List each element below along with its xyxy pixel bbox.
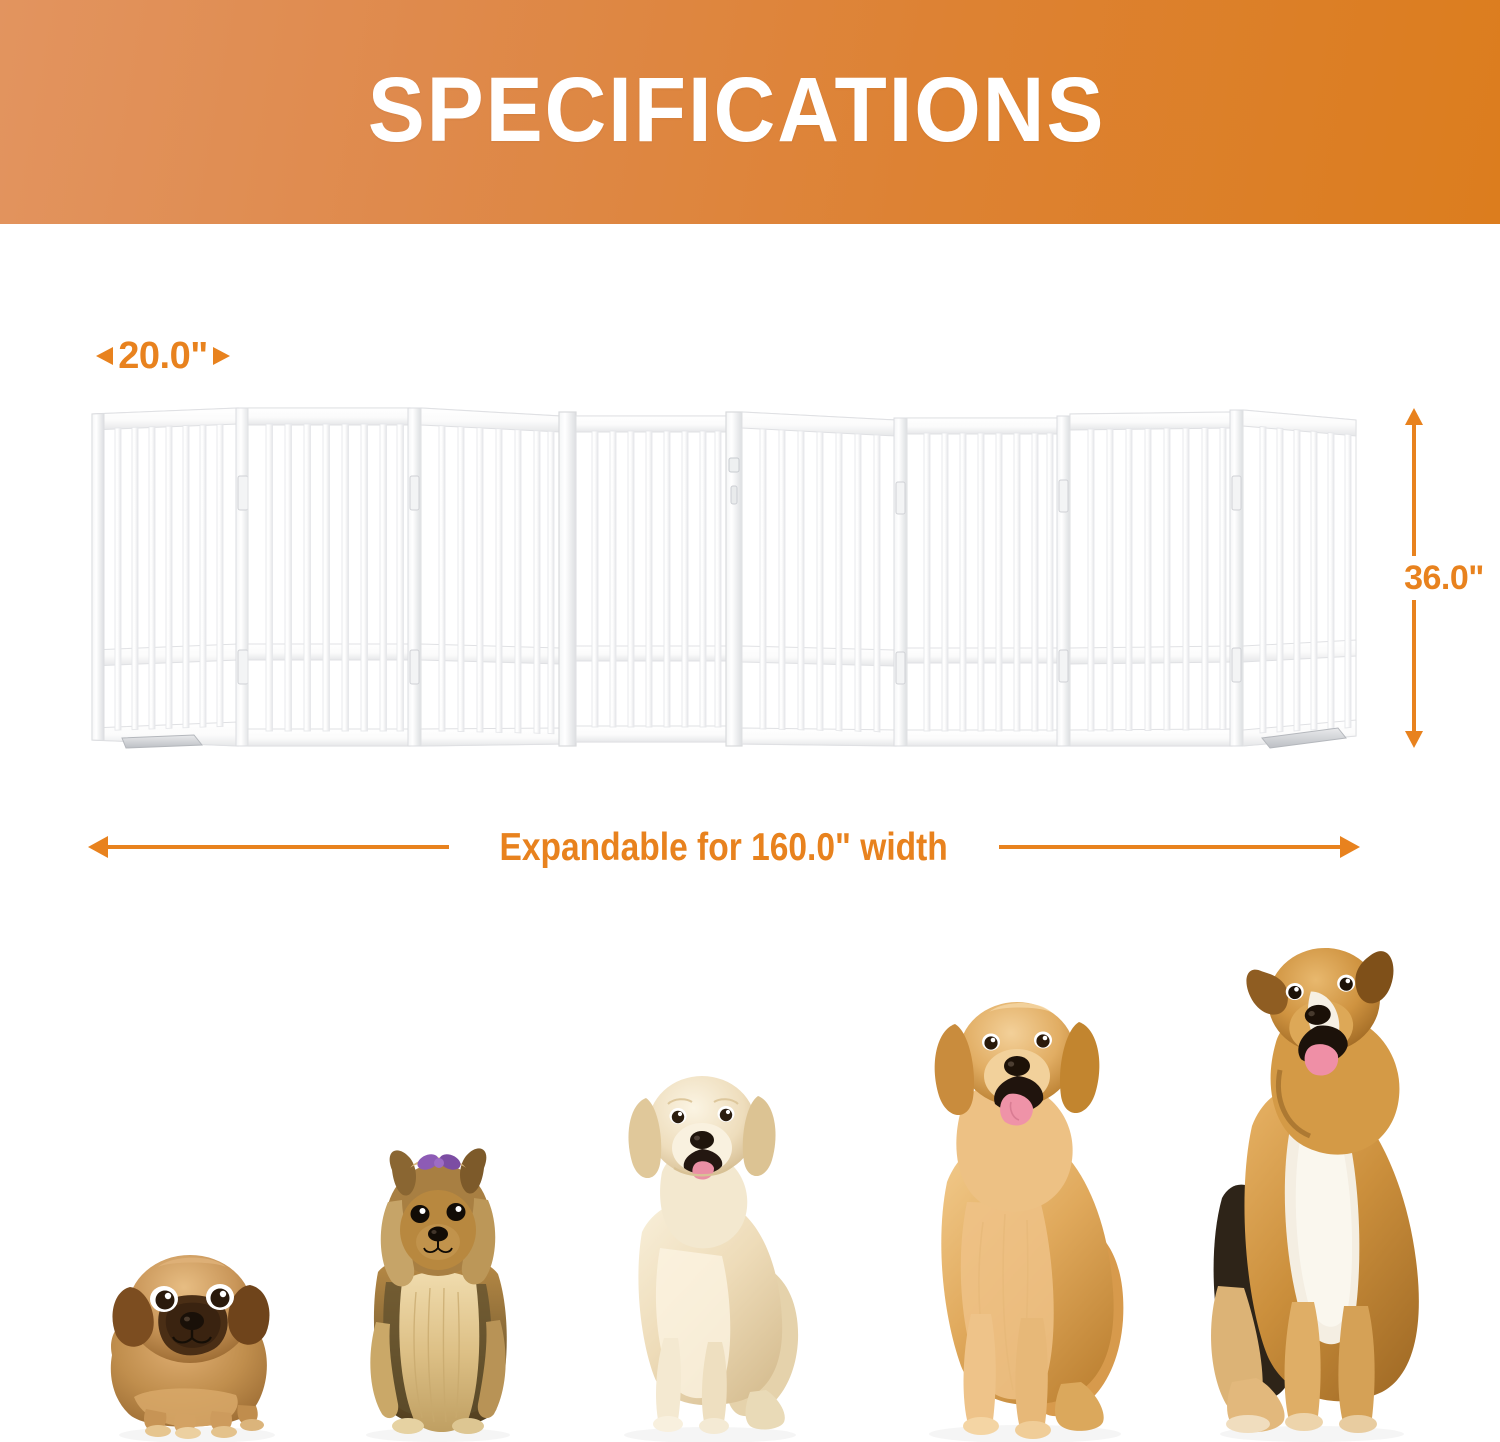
dimension-line-right bbox=[999, 845, 1340, 849]
dog-size-comparison-row bbox=[0, 900, 1500, 1442]
gate-door-panel bbox=[559, 412, 742, 746]
dog-pekingese-puppy bbox=[72, 1237, 322, 1442]
gate-panel-2 bbox=[248, 408, 410, 746]
gate-panel-3 bbox=[421, 408, 560, 746]
panel-hinge-7 bbox=[1230, 410, 1243, 746]
door-jamb bbox=[559, 412, 576, 746]
arrow-up-icon bbox=[1405, 408, 1423, 425]
gate-panel-6 bbox=[907, 418, 1059, 746]
gate-height-dimension: 36.0" bbox=[1392, 408, 1436, 748]
pet-gate-illustration bbox=[70, 398, 1370, 758]
arrow-right-icon bbox=[1340, 836, 1360, 858]
arrow-right-icon bbox=[213, 347, 230, 365]
panel-hinge-5 bbox=[894, 418, 907, 746]
dog-yorkshire-terrier bbox=[330, 1142, 545, 1442]
gate-panel-5 bbox=[742, 412, 896, 746]
gate-height-label: 36.0" bbox=[1374, 556, 1500, 600]
panel-width-label: 20.0" bbox=[113, 337, 212, 375]
dog-shepherd-mix bbox=[1188, 930, 1438, 1442]
expandable-width-dimension: Expandable for 160.0" width bbox=[88, 822, 1360, 872]
page-title: SPECIFICATIONS bbox=[368, 64, 1132, 160]
specifications-page: SPECIFICATIONS 20.0" 36.0" bbox=[0, 0, 1500, 1442]
gate-panel-1 bbox=[92, 408, 238, 748]
panel-width-dimension: 20.0" bbox=[68, 330, 258, 382]
dog-yellow-labrador bbox=[598, 1052, 828, 1442]
dimension-line-left bbox=[108, 845, 449, 849]
panel-hinge-2 bbox=[408, 408, 421, 746]
panel-hinge-6 bbox=[1057, 416, 1070, 746]
door-latch-icon bbox=[729, 458, 739, 472]
arrow-left-icon bbox=[88, 836, 108, 858]
expandable-width-label: Expandable for 160.0" width bbox=[488, 828, 960, 867]
arrow-down-icon bbox=[1405, 731, 1423, 748]
header-banner: SPECIFICATIONS bbox=[0, 0, 1500, 224]
gate-panel-7 bbox=[1070, 412, 1232, 746]
gate-panel-8 bbox=[1243, 410, 1356, 748]
dog-golden-retriever bbox=[905, 982, 1150, 1442]
arrow-left-icon bbox=[96, 347, 113, 365]
